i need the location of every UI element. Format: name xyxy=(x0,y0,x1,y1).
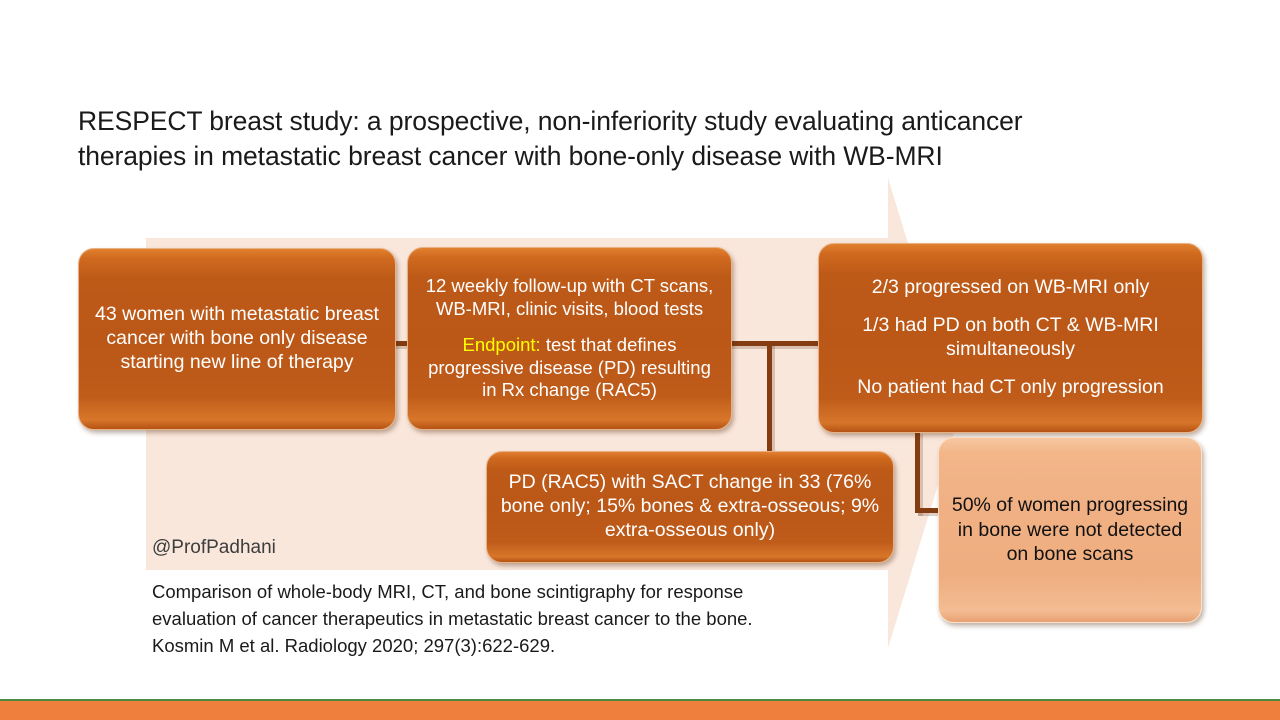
node-bone-scan[interactable]: 50% of women progressing in bone were no… xyxy=(938,437,1202,623)
author-handle: @ProfPadhani xyxy=(152,537,276,559)
slide-canvas: RESPECT breast study: a prospective, non… xyxy=(0,0,1280,720)
node-cohort[interactable]: 43 women with metastatic breast cancer w… xyxy=(78,248,396,430)
connector-outcome-down xyxy=(915,430,920,513)
node-followup-endpoint: Endpoint: test that defines progressive … xyxy=(420,334,719,402)
node-followup[interactable]: 12 weekly follow-up with CT scans, WB-MR… xyxy=(407,247,732,430)
node-outcome-line3: No patient had CT only progression xyxy=(857,376,1163,400)
page-title: RESPECT breast study: a prospective, non… xyxy=(78,104,1168,174)
citation-text: Comparison of whole-body MRI, CT, and bo… xyxy=(152,578,912,660)
node-outcome[interactable]: 2/3 progressed on WB-MRI only 1/3 had PD… xyxy=(818,243,1203,433)
node-bone-scan-text: 50% of women progressing in bone were no… xyxy=(951,493,1189,567)
connector-to-pd-box xyxy=(767,341,772,455)
endpoint-keyword: Endpoint: xyxy=(463,334,541,355)
node-cohort-text: 43 women with metastatic breast cancer w… xyxy=(91,303,383,374)
node-outcome-line2: 1/3 had PD on both CT & WB-MRI simultane… xyxy=(831,314,1190,362)
footer-bar xyxy=(0,701,1280,720)
node-pd-sact-text: PD (RAC5) with SACT change in 33 (76% bo… xyxy=(499,471,881,542)
node-followup-text: 12 weekly follow-up with CT scans, WB-MR… xyxy=(420,275,719,320)
node-outcome-line1: 2/3 progressed on WB-MRI only xyxy=(872,276,1149,300)
node-pd-sact[interactable]: PD (RAC5) with SACT change in 33 (76% bo… xyxy=(486,451,894,563)
